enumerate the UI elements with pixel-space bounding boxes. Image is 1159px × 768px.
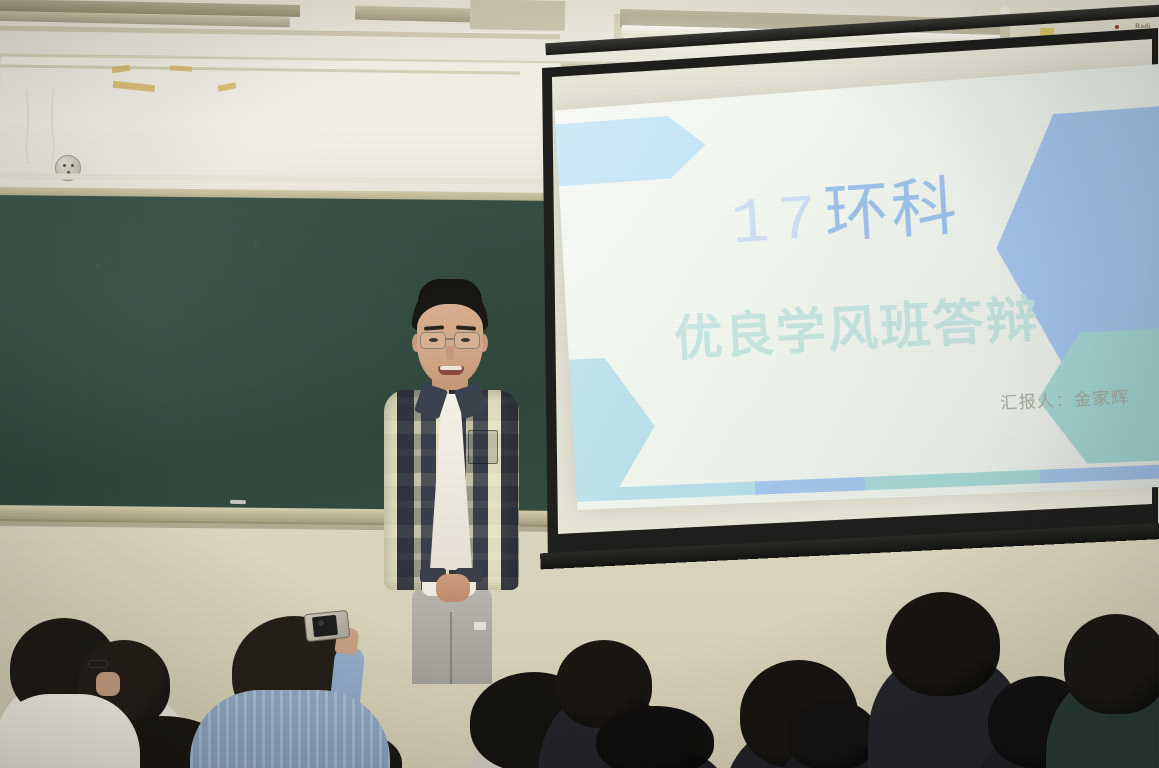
slide-canvas: 17环科 优良学风班答辩 汇报人：金家辉 bbox=[555, 63, 1159, 510]
chevron-bottom-left-shape bbox=[569, 356, 659, 500]
audience-hand bbox=[96, 672, 120, 696]
chevron-top-left-shape bbox=[555, 113, 707, 186]
strip-segment bbox=[865, 470, 1041, 491]
eyeglasses-bridge bbox=[446, 338, 454, 340]
presenter-teeth bbox=[440, 366, 462, 370]
audience-member-11-head bbox=[886, 592, 1000, 696]
classroom-presentation-photo: Radi 17环科 bbox=[0, 0, 1159, 768]
strip-segment bbox=[755, 477, 866, 495]
projected-slide: 17环科 优良学风班答辩 汇报人：金家辉 bbox=[555, 63, 1159, 510]
presenter-nose bbox=[446, 346, 454, 360]
ceiling-duct bbox=[470, 0, 566, 31]
audience-member-13-head bbox=[1064, 614, 1159, 714]
eyeglasses-icon bbox=[454, 332, 480, 349]
tape-residue bbox=[170, 65, 192, 71]
phone-screen bbox=[312, 615, 338, 637]
wall-scuff bbox=[20, 86, 80, 166]
shirt-pocket bbox=[468, 430, 498, 464]
audience bbox=[0, 560, 1159, 768]
chalk-piece bbox=[230, 500, 246, 504]
knit-sweater bbox=[190, 690, 390, 768]
eyeglasses-icon bbox=[420, 332, 446, 349]
slide-title-text: 环科 bbox=[822, 171, 961, 251]
audience-member-8-head bbox=[596, 706, 714, 768]
strip-segment bbox=[1040, 463, 1159, 483]
eyeglasses-icon bbox=[88, 660, 108, 668]
audience-member-10-head bbox=[786, 700, 878, 768]
slide-title-number: 17 bbox=[729, 183, 826, 261]
brand-dot-icon bbox=[1115, 25, 1119, 29]
presenter-mouth bbox=[438, 366, 464, 375]
